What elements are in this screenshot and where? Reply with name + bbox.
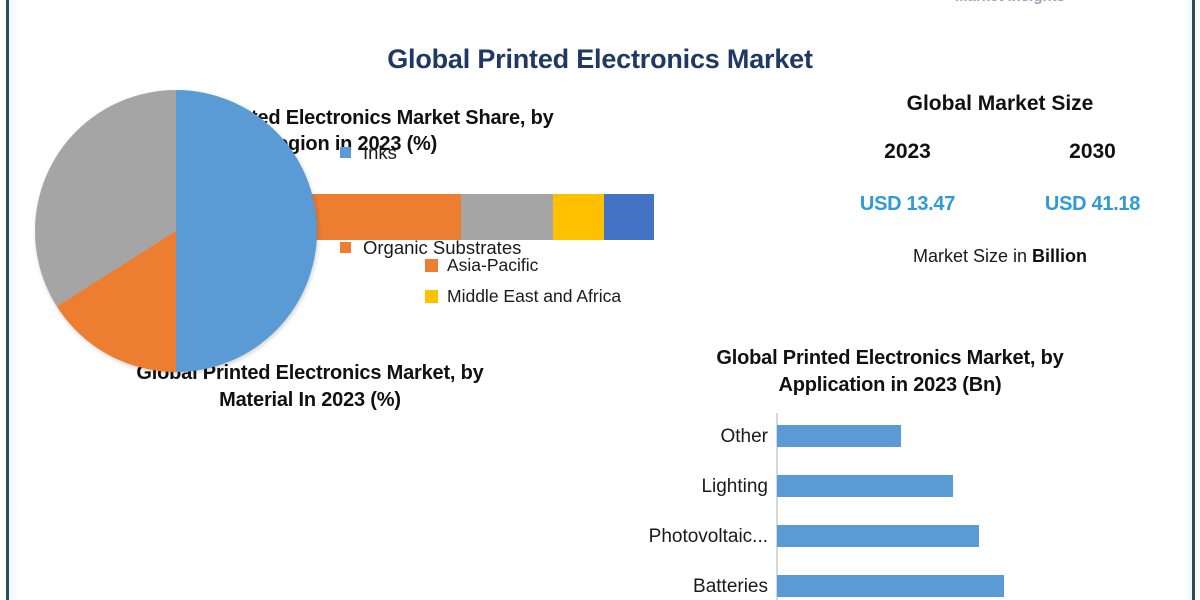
material-share-chart: Global Printed Electronics Market, by Ma… (20, 360, 620, 600)
material-pie-chart[interactable] (35, 90, 317, 372)
application-category-label: Lighting (701, 476, 768, 498)
material-pie-area (35, 90, 325, 390)
material-chart-title-line2: Material In 2023 (%) (20, 387, 600, 414)
legend-item-organic-substrates[interactable]: Organic Substrates (340, 200, 600, 295)
legend-label: Inks (363, 142, 397, 164)
left-edge-glow (9, 0, 19, 600)
application-chart-title-line2: Application in 2023 (Bn) (612, 372, 1168, 399)
application-bar-row: Photovoltaic... (612, 513, 1192, 561)
legend-item-inks[interactable]: Inks (340, 105, 600, 200)
application-plot-area: OtherLightingPhotovoltaic...Batteries (612, 413, 1192, 600)
market-size-2023: 2023 USD 13.47 (815, 140, 1000, 216)
page-title: Global Printed Electronics Market (0, 44, 1200, 75)
legend-label: Organic Substrates (363, 237, 521, 259)
left-border (6, 0, 9, 600)
application-category-label: Other (720, 426, 768, 448)
application-bar[interactable] (777, 425, 901, 447)
market-size-value-2023: USD 13.47 (815, 193, 1000, 216)
clipped-header-text: Market Insights (880, 0, 1140, 4)
stacked-segment-south-america[interactable] (604, 194, 654, 240)
application-chart-title-line1: Global Printed Electronics Market, by (612, 345, 1168, 372)
right-border (1192, 0, 1195, 600)
market-size-title: Global Market Size (810, 92, 1190, 116)
application-bar[interactable] (777, 575, 1004, 597)
application-category-label: Photovoltaic... (649, 526, 768, 548)
market-size-year-2023: 2023 (815, 140, 1000, 164)
application-chart-title: Global Printed Electronics Market, by Ap… (612, 345, 1168, 399)
market-size-footnote: Market Size in Billion (810, 246, 1190, 267)
legend-swatch-icon (340, 147, 351, 158)
application-category-label: Batteries (693, 576, 768, 598)
application-bar-row: Batteries (612, 563, 1192, 600)
application-chart: Global Printed Electronics Market, by Ap… (612, 345, 1192, 600)
application-bar[interactable] (777, 525, 979, 547)
application-bar-row: Lighting (612, 463, 1192, 511)
global-market-size-panel: Global Market Size 2023 USD 13.47 2030 U… (810, 92, 1190, 292)
infographic-frame: Market Insights Global Printed Electroni… (0, 0, 1200, 600)
market-size-year-2030: 2030 (1000, 140, 1185, 164)
market-size-2030: 2030 USD 41.18 (1000, 140, 1185, 216)
application-bar[interactable] (777, 475, 953, 497)
market-size-value-2030: USD 41.18 (1000, 193, 1185, 216)
market-size-values: 2023 USD 13.47 2030 USD 41.18 (810, 140, 1190, 216)
material-legend: Inks Organic Substrates (340, 105, 600, 295)
legend-swatch-icon (340, 242, 351, 253)
market-size-footnote-unit: Billion (1032, 246, 1087, 266)
market-size-footnote-prefix: Market Size in (913, 246, 1032, 266)
application-bar-row: Other (612, 413, 1192, 461)
